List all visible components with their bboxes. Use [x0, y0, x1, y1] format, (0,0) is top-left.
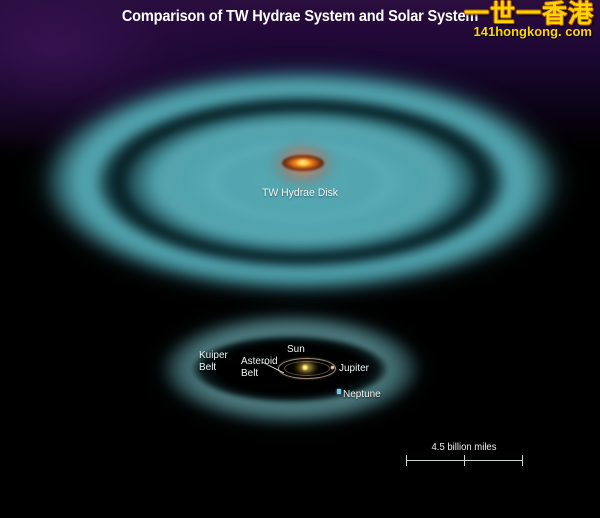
scale-bar-tick-middle — [464, 455, 465, 466]
sun-label: Sun — [287, 344, 305, 356]
sun-body — [301, 364, 309, 371]
asteroid-belt-label-line1: Asteroid — [241, 355, 278, 367]
scale-bar: 4.5 billion miles — [404, 442, 524, 472]
neptune-label: Neptune — [343, 389, 381, 401]
jupiter-body — [330, 365, 335, 370]
scale-bar-label: 4.5 billion miles — [407, 442, 521, 453]
solar-system: Kuiper Belt Asteroid Belt Sun Jupiter Ne… — [0, 300, 600, 450]
neptune-body — [337, 389, 341, 394]
tw-hydrae-star-core — [296, 159, 310, 166]
kuiper-belt-label: Kuiper Belt — [199, 350, 228, 373]
kuiper-belt-label-line1: Kuiper — [199, 349, 228, 361]
asteroid-belt-label-line2: Belt — [241, 367, 258, 379]
scale-bar-tick-right — [522, 455, 523, 466]
illustration-canvas: Comparison of TW Hydrae System and Solar… — [0, 0, 600, 518]
jupiter-label: Jupiter — [339, 363, 369, 375]
asteroid-belt-label: Asteroid Belt — [241, 356, 278, 379]
kuiper-belt-label-line2: Belt — [199, 361, 216, 373]
tw-hydrae-disk-label: TW Hydrae Disk — [15, 187, 585, 199]
tw-hydrae-system: TW Hydrae Disk — [0, 0, 600, 330]
scale-bar-tick-left — [406, 455, 407, 466]
